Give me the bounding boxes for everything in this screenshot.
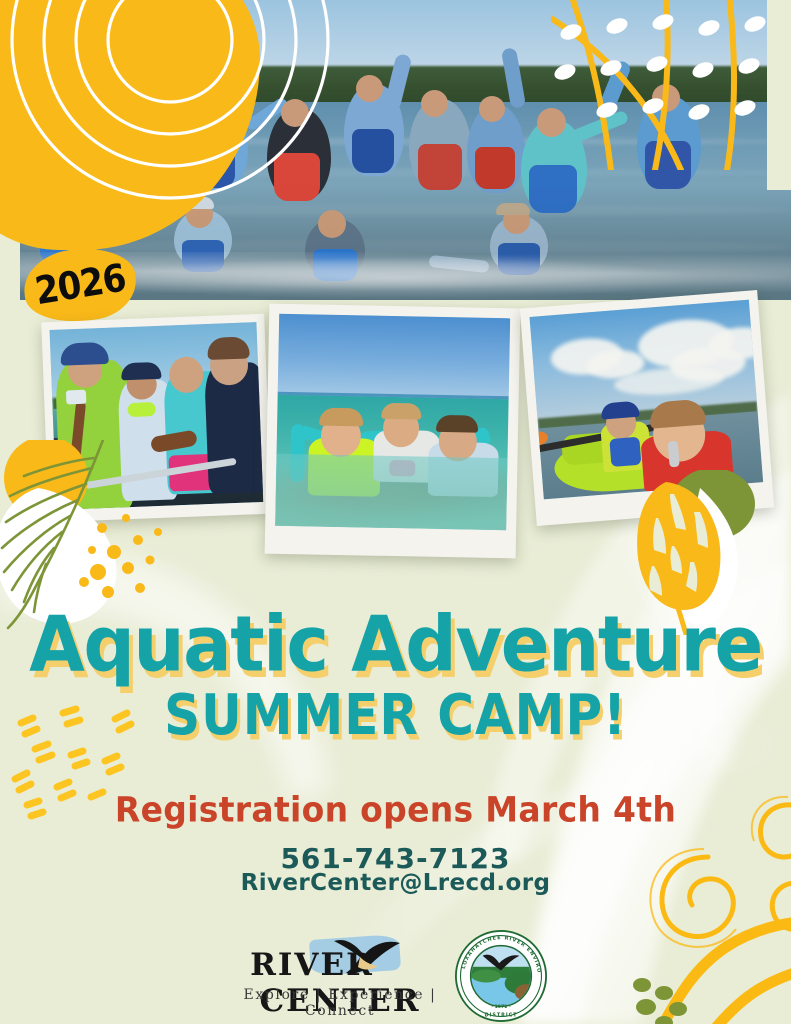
top-right-doodles: [551, 0, 791, 170]
polaroid-2-image: [275, 314, 510, 530]
concentric-rings-decoration: [0, 0, 380, 250]
title-line-2: SUMMER CAMP!: [0, 687, 791, 743]
poster-canvas: 2026: [0, 0, 791, 1024]
river-center-logo: RIVERCENTER Explore | Experience | Conne…: [210, 933, 470, 1015]
seal-year-text: · 1971 ·: [491, 1004, 511, 1010]
email-address[interactable]: RiverCenter@Lrecd.org: [0, 870, 791, 896]
lrecd-seal: LOXAHATCHEE RIVER ENVIRONMENTAL CONTROL …: [455, 930, 547, 1022]
seal-district-text: DISTRICT: [485, 1012, 518, 1018]
osprey-bird-icon: [330, 935, 402, 979]
title-line-1: Aquatic Adventure: [0, 606, 791, 682]
polaroid-photo-2: [265, 304, 521, 559]
logo-row: RIVERCENTER Explore | Experience | Conne…: [0, 925, 791, 1020]
year-badge-label: 2026: [32, 256, 129, 314]
registration-text: Registration opens March 4th: [0, 789, 791, 830]
top-right-edge-strip: [767, 0, 791, 190]
logo-tagline: Explore | Experience | Connect: [210, 987, 470, 1019]
title-block: Aquatic Adventure SUMMER CAMP!: [0, 608, 791, 740]
